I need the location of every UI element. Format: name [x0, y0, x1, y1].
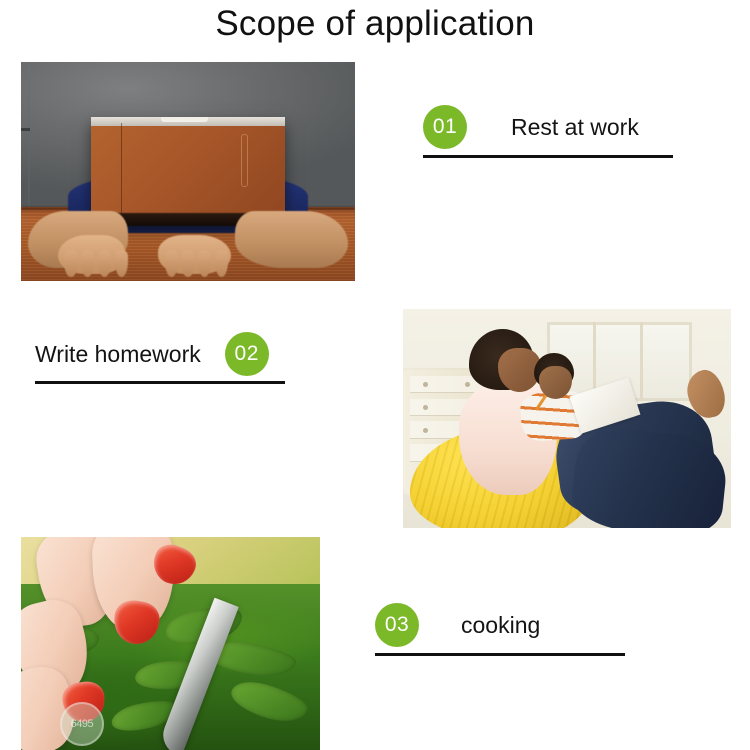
laptop-lid	[91, 119, 285, 224]
drawer-knob	[423, 428, 428, 433]
caption-row-02: 02 Write homework	[35, 332, 269, 376]
caption-label-02: Write homework	[35, 341, 201, 368]
badge-number-02: 02	[225, 332, 269, 376]
laptop-lid-seam	[121, 123, 122, 219]
photo-cooking-scene: 6495	[21, 537, 320, 750]
infographic-page: Scope of application	[0, 0, 750, 750]
wall-seam	[21, 128, 30, 131]
window-mullion	[640, 322, 643, 401]
finger	[64, 250, 77, 276]
caption-underline-03	[375, 653, 625, 656]
laptop-lid-latch	[241, 134, 248, 186]
page-title: Scope of application	[0, 2, 750, 46]
caption-label-03: cooking	[461, 612, 540, 639]
photo-rest-at-work	[21, 62, 355, 281]
wall-edge	[28, 62, 30, 211]
caption-row-03: 03 cooking	[375, 603, 540, 647]
photo-write-homework-scene	[403, 309, 731, 528]
photo-write-homework	[403, 309, 731, 528]
caption-underline-01	[423, 155, 673, 158]
photo-cooking: 6495	[21, 537, 320, 750]
right-arm	[235, 211, 349, 268]
finger	[115, 250, 128, 276]
badge-number-01: 01	[423, 105, 467, 149]
laptop-lid-notch	[161, 117, 208, 123]
image-watermark: 6495	[60, 702, 104, 746]
finger	[165, 250, 178, 276]
finger	[181, 250, 194, 276]
photo-rest-at-work-scene	[21, 62, 355, 281]
badge-number-03: 03	[375, 603, 419, 647]
caption-label-01: Rest at work	[511, 114, 639, 141]
caption-underline-02	[35, 381, 285, 384]
caption-row-01: 01 Rest at work	[423, 105, 639, 149]
